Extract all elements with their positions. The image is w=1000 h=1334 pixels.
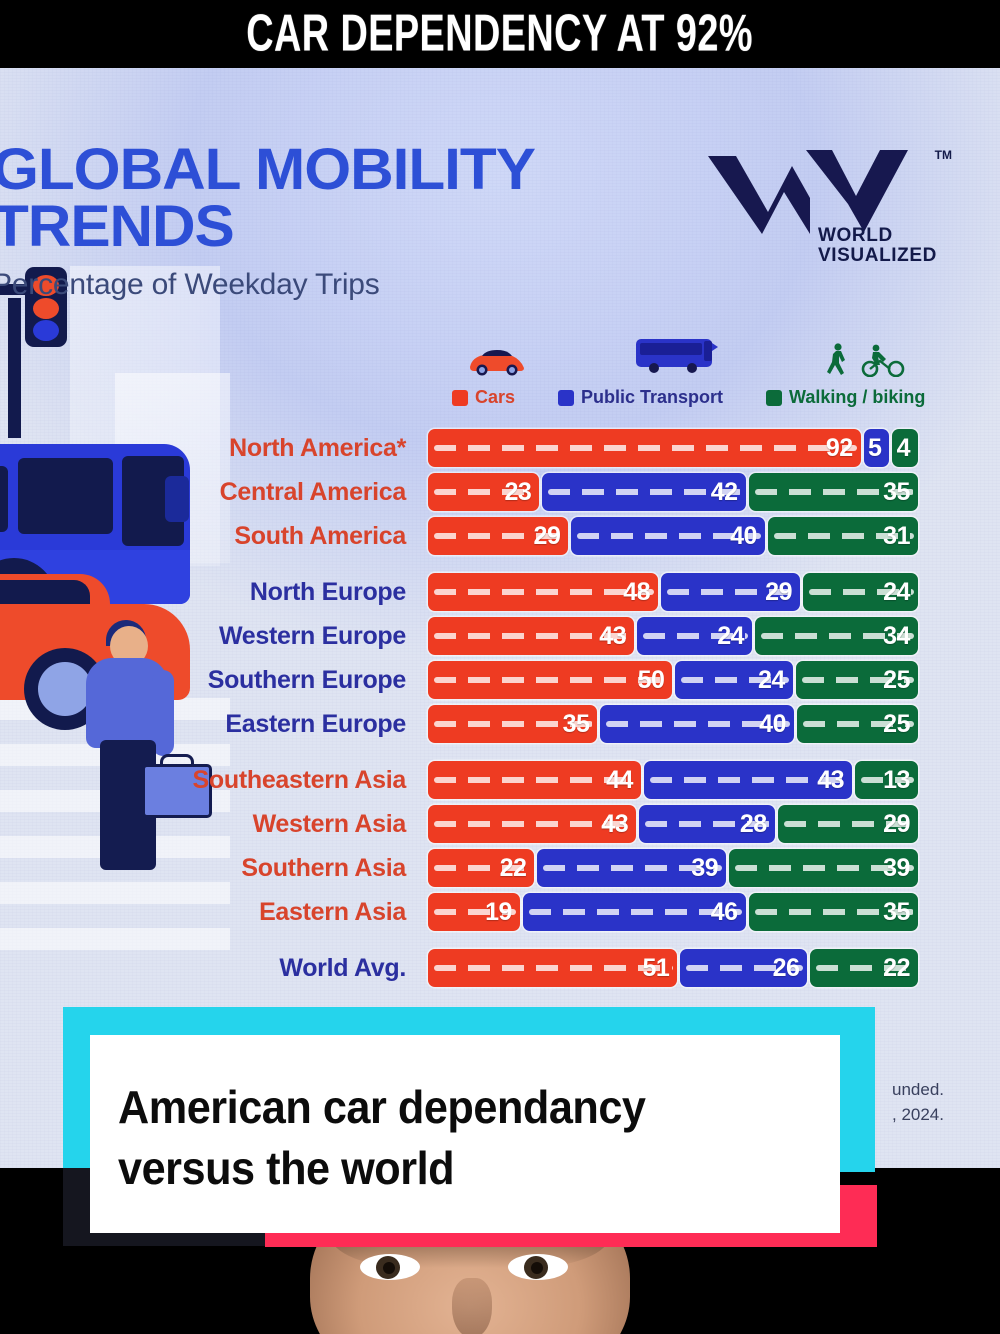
chart-row-bar: 354025	[428, 705, 918, 743]
chart-row-label: Southeastern Asia	[0, 766, 428, 795]
page-title-line2: TRENDS	[0, 199, 678, 256]
chart-row: Eastern Asia194635	[0, 892, 1000, 932]
segment-public-transport[interactable]: 40	[600, 705, 794, 743]
person-nose	[452, 1278, 492, 1334]
top-banner-text: CAR DEPENDENCY AT 92%	[247, 5, 754, 64]
segment-cars[interactable]: 29	[428, 517, 568, 555]
chart-row-bar: 432434	[428, 617, 918, 655]
chart-legend: Cars Public Transport	[448, 336, 940, 408]
segment-value: 4	[897, 434, 910, 463]
bus-icon	[632, 337, 722, 382]
segment-value: 25	[883, 666, 910, 695]
chart-row-bar: 482924	[428, 573, 918, 611]
chart-row: Eastern Europe354025	[0, 704, 1000, 744]
segment-cars[interactable]: 48	[428, 573, 658, 611]
segment-value: 5	[868, 434, 881, 463]
person-left-eye	[360, 1254, 420, 1280]
segment-value: 40	[759, 710, 786, 739]
legend-label-cars: Cars	[475, 387, 515, 408]
chart-group-europe: North Europe482924Western Europe432434So…	[0, 572, 1000, 744]
poster-title-block: GLOBAL MOBILITY TRENDS Percentage of Wee…	[0, 142, 652, 302]
segment-value: 43	[817, 766, 844, 795]
legend-label-walking-biking: Walking / biking	[789, 387, 925, 408]
segment-value: 29	[765, 578, 792, 607]
segment-value: 43	[601, 810, 628, 839]
chart-row: Southeastern Asia444313	[0, 760, 1000, 800]
chart-row-bar: 512622	[428, 949, 918, 987]
infographic-poster: GLOBAL MOBILITY TRENDS Percentage of Wee…	[0, 68, 1000, 1168]
chart-row: Central America234235	[0, 472, 1000, 512]
segment-walking-biking[interactable]: 39	[729, 849, 918, 887]
car-icon	[464, 345, 530, 382]
segment-value: 24	[883, 578, 910, 607]
legend-swatch-public-transport	[558, 390, 574, 406]
logo-word-world: WORLD	[818, 226, 937, 246]
trademark-icon: TM	[935, 148, 952, 162]
segment-walking-biking[interactable]: 35	[749, 893, 918, 931]
chart-row-label: Central America	[0, 478, 428, 507]
chart-row: North America*9254	[0, 428, 1000, 468]
segment-public-transport[interactable]: 29	[661, 573, 800, 611]
segment-value: 35	[563, 710, 590, 739]
world-visualized-logo: TM WORLD VISUALIZED	[698, 146, 948, 276]
legend-item-cars[interactable]: Cars	[452, 387, 515, 408]
legend-swatch-walking-biking	[766, 390, 782, 406]
segment-value: 51	[643, 954, 670, 983]
segment-value: 28	[740, 810, 767, 839]
chart-row-label: Eastern Europe	[0, 710, 428, 739]
segment-value: 24	[758, 666, 785, 695]
video-frame: CAR DEPENDENCY AT 92%	[0, 0, 1000, 1334]
segment-cars[interactable]: 43	[428, 805, 636, 843]
chart-row: World Avg.512622	[0, 948, 1000, 988]
walk-bike-icon	[824, 343, 912, 382]
segment-cars[interactable]: 23	[428, 473, 539, 511]
segment-walking-biking[interactable]: 25	[796, 661, 918, 699]
segment-value: 40	[730, 522, 757, 551]
segment-value: 22	[500, 854, 527, 883]
chart-footnote: unded. , 2024.	[892, 1078, 944, 1127]
segment-walking-biking[interactable]: 22	[810, 949, 918, 987]
chart-row-bar: 223939	[428, 849, 918, 887]
segment-value: 34	[883, 622, 910, 651]
logo-word-visualized: VISUALIZED	[818, 246, 937, 266]
top-banner: CAR DEPENDENCY AT 92%	[0, 0, 1000, 68]
chart-row-bar: 234235	[428, 473, 918, 511]
segment-walking-biking[interactable]: 4	[892, 429, 918, 467]
segment-value: 29	[534, 522, 561, 551]
chart-row-bar: 194635	[428, 893, 918, 931]
chart-row-bar: 9254	[428, 429, 918, 467]
segment-value: 35	[883, 478, 910, 507]
stacked-bar-chart: North America*9254Central America234235S…	[0, 428, 1000, 1004]
segment-value: 43	[599, 622, 626, 651]
segment-value: 23	[505, 478, 532, 507]
chart-row: Western Europe432434	[0, 616, 1000, 656]
segment-cars[interactable]: 92	[428, 429, 861, 467]
segment-value: 29	[883, 810, 910, 839]
segment-walking-biking[interactable]: 31	[768, 517, 918, 555]
w-monogram-icon	[706, 146, 916, 236]
segment-walking-biking[interactable]: 35	[749, 473, 918, 511]
segment-walking-biking[interactable]: 34	[755, 617, 918, 655]
segment-public-transport[interactable]: 42	[542, 473, 745, 511]
segment-value: 25	[883, 710, 910, 739]
traffic-light-pole	[8, 298, 21, 438]
caption-text: American car dependancy versus the world	[118, 1077, 795, 1199]
segment-value: 39	[883, 854, 910, 883]
legend-swatch-cars	[452, 390, 468, 406]
chart-row-label: Southern Asia	[0, 854, 428, 883]
segment-public-transport[interactable]: 24	[637, 617, 752, 655]
chart-row-label: Eastern Asia	[0, 898, 428, 927]
chart-group-world: World Avg.512622	[0, 948, 1000, 988]
segment-cars[interactable]: 35	[428, 705, 597, 743]
segment-value: 50	[638, 666, 665, 695]
segment-public-transport[interactable]: 5	[864, 429, 890, 467]
segment-public-transport[interactable]: 39	[537, 849, 726, 887]
caption-line-1: American car dependancy	[118, 1077, 795, 1138]
segment-walking-biking[interactable]: 13	[855, 761, 918, 799]
chart-row-bar: 294031	[428, 517, 918, 555]
chart-row-bar: 502425	[428, 661, 918, 699]
segment-value: 26	[773, 954, 800, 983]
person-right-eye	[508, 1254, 568, 1280]
caption-line-2: versus the world	[118, 1138, 795, 1199]
segment-dash-pattern	[434, 445, 857, 451]
chart-row-label: North Europe	[0, 578, 428, 607]
segment-value: 31	[883, 522, 910, 551]
segment-cars[interactable]: 51	[428, 949, 677, 987]
segment-cars[interactable]: 50	[428, 661, 672, 699]
page-title-line1: GLOBAL MOBILITY	[0, 142, 678, 199]
chart-row-label: Western Europe	[0, 622, 428, 651]
segment-value: 22	[883, 954, 910, 983]
segment-cars[interactable]: 44	[428, 761, 641, 799]
segment-public-transport[interactable]: 24	[675, 661, 792, 699]
chart-row-label: World Avg.	[0, 954, 428, 983]
segment-value: 13	[883, 766, 910, 795]
segment-dash-pattern	[529, 909, 742, 915]
segment-cars[interactable]: 43	[428, 617, 634, 655]
chart-row-bar: 432829	[428, 805, 918, 843]
segment-value: 44	[606, 766, 633, 795]
segment-value: 24	[717, 622, 744, 651]
segment-value: 39	[691, 854, 718, 883]
segment-public-transport[interactable]: 40	[571, 517, 765, 555]
logo-wordmark: WORLD VISUALIZED	[818, 226, 937, 266]
segment-public-transport[interactable]: 28	[639, 805, 775, 843]
chart-row: South America294031	[0, 516, 1000, 556]
segment-value: 42	[711, 478, 738, 507]
segment-dash-pattern	[434, 965, 673, 971]
chart-group-americas: North America*9254Central America234235S…	[0, 428, 1000, 556]
legend-label-public-transport: Public Transport	[581, 387, 723, 408]
segment-value: 19	[485, 898, 512, 927]
segment-public-transport[interactable]: 46	[523, 893, 746, 931]
chart-row: Southern Europe502425	[0, 660, 1000, 700]
segment-cars[interactable]: 22	[428, 849, 534, 887]
segment-cars[interactable]: 19	[428, 893, 520, 931]
segment-walking-biking[interactable]: 25	[797, 705, 918, 743]
chart-row-label: South America	[0, 522, 428, 551]
chart-row: Southern Asia223939	[0, 848, 1000, 888]
segment-value: 46	[711, 898, 738, 927]
page-subtitle: Percentage of Weekday Trips	[0, 268, 652, 302]
segment-public-transport[interactable]: 43	[644, 761, 852, 799]
segment-value: 48	[623, 578, 650, 607]
chart-row: Western Asia432829	[0, 804, 1000, 844]
legend-item-public-transport[interactable]: Public Transport	[558, 387, 723, 408]
chart-row-label: Southern Europe	[0, 666, 428, 695]
chart-group-asia: Southeastern Asia444313Western Asia43282…	[0, 760, 1000, 932]
chart-row-bar: 444313	[428, 761, 918, 799]
chart-row-label: Western Asia	[0, 810, 428, 839]
segment-value: 35	[883, 898, 910, 927]
segment-value: 92	[826, 434, 853, 463]
segment-walking-biking[interactable]: 29	[778, 805, 918, 843]
legend-item-walking-biking[interactable]: Walking / biking	[766, 387, 925, 408]
segment-dash-pattern	[434, 589, 654, 595]
chart-row-label: North America*	[0, 434, 428, 463]
segment-public-transport[interactable]: 26	[680, 949, 807, 987]
segment-walking-biking[interactable]: 24	[803, 573, 918, 611]
chart-row: North Europe482924	[0, 572, 1000, 612]
segment-dash-pattern	[434, 677, 668, 683]
